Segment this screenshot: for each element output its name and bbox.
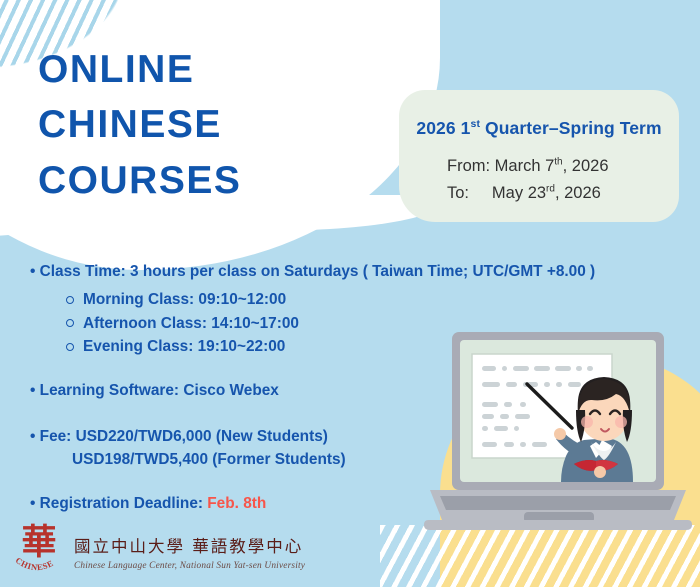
list-item: Evening Class: 19:10~22:00 <box>66 335 450 358</box>
list-item: Afternoon Class: 14:10~17:00 <box>66 312 450 335</box>
registration-deadline: • Registration Deadline: Feb. 8th <box>30 495 450 513</box>
session-label: Afternoon Class: 14:10~17:00 <box>83 312 299 335</box>
term-info-card: 2026 1st Quarter–Spring Term From: March… <box>399 90 679 222</box>
poster-canvas: ONLINE CHINESE COURSES 2026 1st Quarter–… <box>0 0 700 587</box>
term-to-ordinal: rd <box>546 183 555 194</box>
hollow-bullet-icon <box>66 319 74 327</box>
arc-label: CHINESE <box>14 556 56 572</box>
organization-name-english: Chinese Language Center, National Sun Ya… <box>74 561 305 571</box>
term-title: 2026 1st Quarter–Spring Term <box>399 118 679 139</box>
class-time-bullet: • Class Time: 3 hours per class on Satur… <box>30 262 450 281</box>
list-item: Morning Class: 09:10~12:00 <box>66 288 450 311</box>
term-title-prefix: 2026 1 <box>416 118 470 138</box>
term-from-ordinal: th <box>554 157 562 168</box>
deadline-value: Feb. 8th <box>207 495 266 512</box>
term-to-label: To: <box>447 184 469 202</box>
hollow-bullet-icon <box>66 343 74 351</box>
headline-line-1: ONLINE <box>38 42 241 97</box>
course-details: • Class Time: 3 hours per class on Satur… <box>30 262 450 513</box>
page-title: ONLINE CHINESE COURSES <box>38 42 241 208</box>
fee-block: • Fee: USD220/TWD6,000 (New Students) US… <box>30 425 450 472</box>
organization-names: 國立中山大學 華語教學中心 Chinese Language Center, N… <box>74 537 305 571</box>
term-to-year: , 2026 <box>555 184 601 202</box>
session-label: Evening Class: 19:10~22:00 <box>83 335 285 358</box>
chinese-arc-icon: CHINESE <box>10 556 68 580</box>
deadline-label: • Registration Deadline: <box>30 495 207 512</box>
hua-logo-icon: 華 CHINESE <box>10 528 68 580</box>
learning-software-bullet: • Learning Software: Cisco Webex <box>30 380 450 402</box>
hollow-bullet-icon <box>66 296 74 304</box>
term-to-date: May 23 <box>469 184 546 202</box>
term-dates: From: March 7th, 2026 To: May 23rd, 2026 <box>447 153 609 206</box>
class-session-list: Morning Class: 09:10~12:00 Afternoon Cla… <box>66 288 450 358</box>
headline-line-2: CHINESE <box>38 97 241 152</box>
term-from-date: March 7 <box>490 157 554 175</box>
fee-line-new-students: • Fee: USD220/TWD6,000 (New Students) <box>30 425 450 448</box>
term-title-suffix: Quarter–Spring Term <box>480 118 662 138</box>
session-label: Morning Class: 09:10~12:00 <box>83 288 286 311</box>
term-end-row: To: May 23rd, 2026 <box>447 180 609 207</box>
headline-line-3: COURSES <box>38 153 241 208</box>
organization-name-chinese: 國立中山大學 華語教學中心 <box>74 537 305 557</box>
term-from-year: , 2026 <box>563 157 609 175</box>
term-from-label: From: <box>447 157 490 175</box>
term-start-row: From: March 7th, 2026 <box>447 153 609 180</box>
fee-line-former-students: USD198/TWD5,400 (Former Students) <box>72 448 450 471</box>
laptop-teacher-illustration <box>424 330 692 538</box>
organization-logo: 華 CHINESE 國立中山大學 華語教學中心 Chinese Language… <box>10 528 305 580</box>
term-title-ordinal: st <box>471 118 481 130</box>
